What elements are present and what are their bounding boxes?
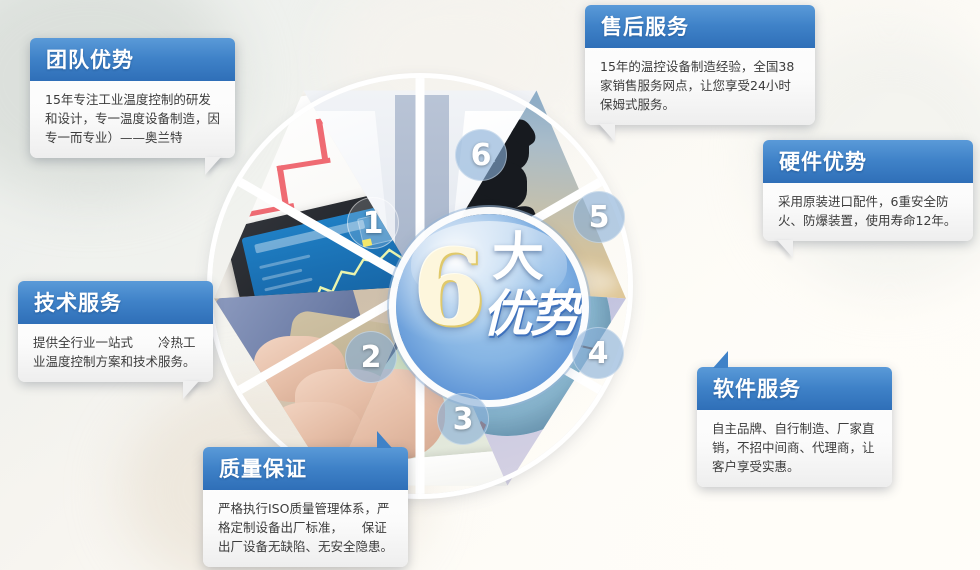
card-tech-service[interactable]: 技术服务 提供全行业一站式 冷热工业温度控制方案和技术服务。 <box>18 281 213 382</box>
card-team-body: 15年专注工业温度控制的研发和设计，专一温度设备制造，因专一而专业）——奥兰特 <box>30 81 235 158</box>
emblem-text: 6 大 优势 <box>396 214 582 400</box>
card-team-title: 团队优势 <box>30 38 235 81</box>
emblem-sub-word: 优势 <box>482 288 578 340</box>
callout-tail <box>777 240 793 258</box>
center-emblem[interactable]: 6 大 优势 <box>396 214 582 400</box>
card-tech-service-body: 提供全行业一站式 冷热工业温度控制方案和技术服务。 <box>18 324 213 382</box>
marker-5[interactable]: 5 <box>573 191 625 243</box>
card-after-sales-title: 售后服务 <box>585 5 815 48</box>
card-software-title: 软件服务 <box>697 367 892 410</box>
emblem-number: 6 <box>413 236 485 340</box>
marker-4[interactable]: 4 <box>572 327 624 379</box>
marker-6[interactable]: 6 <box>455 129 507 181</box>
card-software[interactable]: 软件服务 自主品牌、自行制造、厂家直销，不招中间商、代理商，让客户享受实惠。 <box>697 367 892 487</box>
card-software-body: 自主品牌、自行制造、厂家直销，不招中间商、代理商，让客户享受实惠。 <box>697 410 892 487</box>
callout-tail <box>377 431 392 448</box>
marker-3[interactable]: 3 <box>437 393 489 445</box>
card-team[interactable]: 团队优势 15年专注工业温度控制的研发和设计，专一温度设备制造，因专一而专业）—… <box>30 38 235 158</box>
card-quality[interactable]: 质量保证 严格执行ISO质量管理体系，严格定制设备出厂标准， 保证出厂设备无缺陷… <box>203 447 408 567</box>
card-quality-title: 质量保证 <box>203 447 408 490</box>
callout-tail <box>599 124 615 142</box>
card-after-sales-body: 15年的温控设备制造经验，全国38家销售服务网点，让您享受24小时保姆式服务。 <box>585 48 815 125</box>
infographic-canvas: 6 大 优势 1 2 3 4 5 6 团队优势 15年专注工业温度控制的研发和设… <box>0 0 980 570</box>
card-hardware-title: 硬件优势 <box>763 140 973 183</box>
marker-2[interactable]: 2 <box>345 331 397 383</box>
card-hardware[interactable]: 硬件优势 采用原装进口配件，6重安全防火、防爆装置，使用寿命12年。 <box>763 140 973 241</box>
callout-tail <box>713 351 728 368</box>
card-after-sales[interactable]: 售后服务 15年的温控设备制造经验，全国38家销售服务网点，让您享受24小时保姆… <box>585 5 815 125</box>
card-quality-body: 严格执行ISO质量管理体系，严格定制设备出厂标准， 保证出厂设备无缺陷、无安全隐… <box>203 490 408 567</box>
callout-tail <box>183 381 199 399</box>
card-hardware-body: 采用原装进口配件，6重安全防火、防爆装置，使用寿命12年。 <box>763 183 973 241</box>
callout-tail <box>205 157 221 175</box>
marker-1[interactable]: 1 <box>347 197 399 249</box>
card-tech-service-title: 技术服务 <box>18 281 213 324</box>
emblem-big-word: 大 <box>492 232 544 284</box>
